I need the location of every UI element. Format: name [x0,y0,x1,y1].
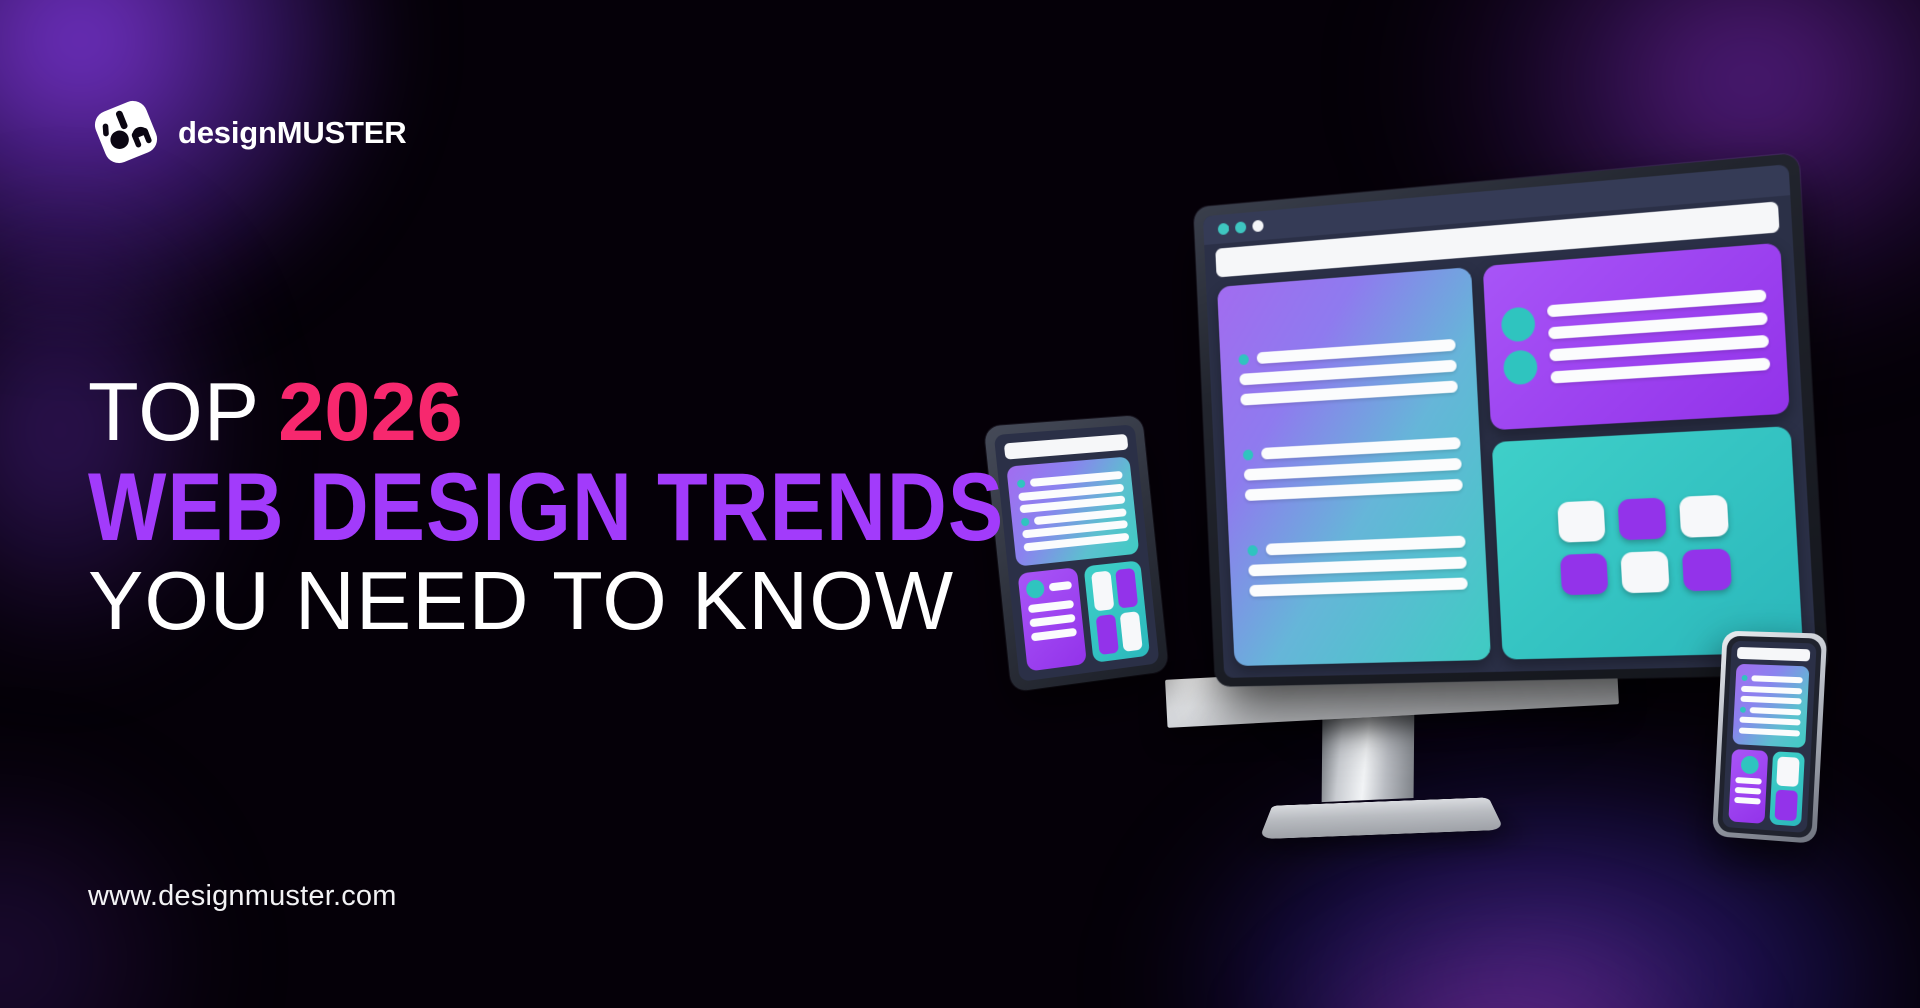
text-line [1266,536,1466,556]
text-group [1243,437,1463,501]
tablet-purple-card [1018,568,1087,672]
text-group [1238,339,1457,406]
browser-dot-close-icon[interactable] [1218,223,1229,235]
text-line [1240,380,1457,405]
text-line [1031,628,1077,642]
text-line [1751,676,1803,684]
tablet-hero-panel [1006,456,1139,567]
background-glow-top-left [0,0,490,420]
list-bullet-icon [1017,480,1026,489]
browser-dot-maximize-icon[interactable] [1252,220,1264,232]
desktop-monitor [1193,153,1828,687]
tablet-bottom-row [1018,561,1150,672]
text-line [1244,458,1462,481]
promo-banner: designMUSTER TOP2026 WEB DESIGN TRENDS Y… [0,0,1920,1008]
monitor-base [1259,797,1504,839]
grid-tile[interactable] [1091,571,1115,612]
list-bullet-icon [1243,449,1254,460]
grid-tile[interactable] [1095,614,1119,655]
avatar [1740,755,1758,774]
text-line [1248,556,1466,576]
tablet-tile-card [1083,561,1150,663]
phone-hero-panel [1732,664,1809,748]
brand-name: designMUSTER [178,117,406,148]
tile-row [1516,492,1773,544]
avatar [1503,350,1538,386]
avatar [1025,579,1045,599]
avatar [1500,306,1535,342]
grid-tile[interactable] [1679,494,1729,537]
headline-line-3: YOU NEED TO KNOW [88,559,1004,644]
teal-tile-grid-card [1491,427,1803,660]
headline-line-2: WEB DESIGN TRENDS [88,459,1004,557]
card-text-lines [1547,289,1771,383]
content-column-right [1482,243,1803,660]
dm-monogram-icon [86,92,166,172]
background-glow-bottom-left [0,700,280,1008]
tile-row [1519,546,1776,596]
grid-tile[interactable] [1119,611,1142,652]
phone-tile-card [1770,751,1805,826]
tablet-screen [994,424,1160,681]
purple-list-card [1482,243,1789,431]
list-bullet-icon [1238,354,1249,365]
monitor-screen [1203,164,1817,678]
phone-purple-card [1728,749,1768,824]
content-panel-gradient [1217,267,1491,666]
text-line [1741,686,1802,695]
text-line [1549,335,1769,362]
text-group [1247,536,1467,597]
website-url[interactable]: www.designmuster.com [88,880,397,913]
text-line [1548,312,1768,339]
monitor-neck [1322,706,1415,802]
text-line [1257,339,1456,364]
text-line [1029,614,1075,627]
text-line [1734,797,1761,805]
text-line [1249,577,1467,596]
grid-tile[interactable] [1682,548,1732,591]
phone-url-bar[interactable] [1737,647,1810,661]
text-line [1735,787,1762,795]
phone-screen [1722,641,1816,833]
phone-bottom-row [1728,749,1805,827]
grid-tile[interactable] [1560,553,1608,595]
grid-tile[interactable] [1621,550,1670,593]
text-line [1739,717,1800,726]
text-line [1547,289,1767,317]
browser-content [1206,231,1817,678]
phone-bezel [1717,636,1822,839]
text-line [1261,437,1460,460]
list-bullet-icon [1742,675,1748,681]
headline-block: TOP2026 WEB DESIGN TRENDS YOU NEED TO KN… [88,370,1004,644]
list-bullet-icon [1740,706,1746,712]
browser-dot-minimize-icon[interactable] [1235,221,1246,233]
text-line [1740,696,1801,705]
text-line [1739,727,1800,736]
text-line [1750,707,1802,715]
monitor-bezel [1193,153,1828,687]
list-bullet-icon [1247,545,1258,556]
text-line [1735,777,1762,785]
avatar-stack [1500,306,1537,385]
brand-name-light: design [178,115,277,150]
text-line [1550,357,1770,383]
headline-line-1: TOP2026 [88,370,1004,455]
text-line [1245,479,1463,501]
tablet-url-bar[interactable] [1004,434,1129,460]
smartphone-device [1712,631,1827,844]
tablet-device [984,415,1169,692]
grid-tile[interactable] [1775,790,1798,821]
headline-year: 2026 [278,365,463,458]
grid-tile[interactable] [1776,756,1799,787]
list-bullet-icon [1021,517,1030,526]
text-line [1049,581,1072,591]
grid-tile[interactable] [1115,568,1138,608]
brand-logo[interactable]: designMUSTER [86,92,406,172]
grid-tile[interactable] [1618,497,1667,540]
headline-top-word: TOP [88,365,260,458]
text-line [1028,600,1074,613]
grid-tile[interactable] [1558,500,1606,542]
brand-name-bold: MUSTER [277,115,407,150]
device-mockup-group [1000,180,1920,900]
